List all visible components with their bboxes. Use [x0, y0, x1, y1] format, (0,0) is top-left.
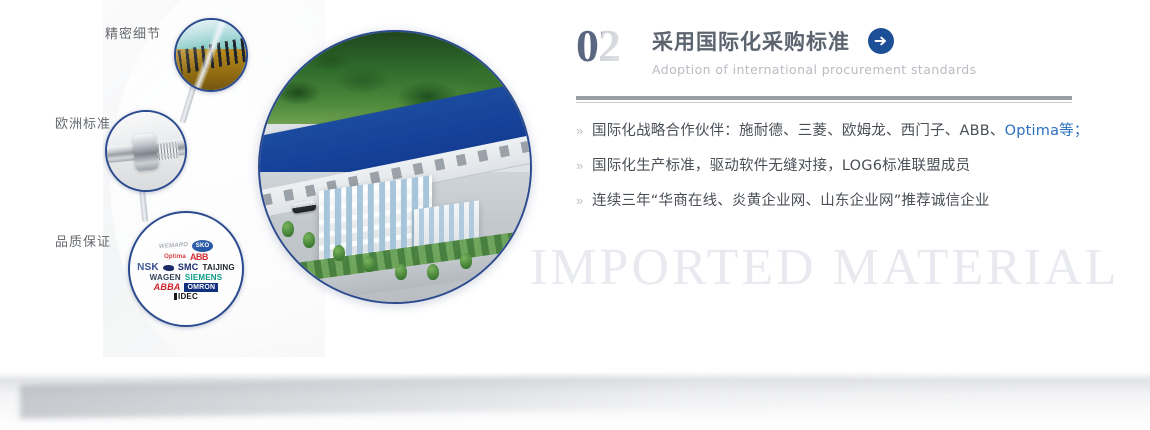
logo-wagen: WAGEN [150, 274, 181, 282]
list-item-text-plain: 国际化生产标准，驱动软件无缝对接，LOG6标准联盟成员 [592, 158, 970, 174]
tree [303, 232, 315, 248]
smc-mark-icon [163, 265, 174, 271]
brand-logos-circle: WEMARO SKO Optima ABB NSK SMC TAIJING WA… [128, 211, 244, 327]
tree [333, 245, 345, 261]
logo-optima: Optima [164, 254, 186, 260]
watermark-text: IMPORTED MATERIAL [530, 238, 1120, 297]
list-item: » 国际化生产标准，驱动软件无缝对接，LOG6标准联盟成员 [576, 156, 1096, 176]
section-header-text: 采用国际化采购标准 Adoption of international proc… [652, 24, 977, 77]
right-content: 02 采用国际化采购标准 Adoption of international p… [576, 24, 1096, 226]
side-label-european-standard: 欧洲标准 [55, 113, 111, 132]
section-number: 02 [576, 24, 626, 68]
bottom-shadow-band [0, 372, 1150, 430]
list-item-text: 国际化战略合作伙伴：施耐德、三菱、欧姆龙、西门子、ABB、Optima等； [592, 121, 1089, 141]
list-item-text: 连续三年“华商在线、炎黄企业网、山东企业网”推荐诚信企业 [592, 191, 990, 211]
page-subtitle: Adoption of international procurement st… [652, 62, 977, 77]
bottom-shadow-sweep [20, 367, 1150, 419]
logo-nsk: NSK [137, 263, 159, 273]
gear-macro-circle [174, 18, 248, 92]
list-item-text-plain: 连续三年“华商在线、炎黄企业网、山东企业网”推荐诚信企业 [592, 193, 990, 209]
page-root: WEMARO SKO Optima ABB NSK SMC TAIJING WA… [0, 0, 1150, 430]
chevron-bullet-icon: » [576, 121, 592, 141]
logo-smc: SMC [178, 263, 199, 272]
factory-photo-circle [258, 30, 532, 304]
idec-bar-icon [174, 293, 177, 300]
ball-screw-nut [132, 133, 159, 171]
section-header: 02 采用国际化采购标准 Adoption of international p… [576, 24, 1096, 82]
logo-sko: SKO [192, 240, 214, 252]
list-item: » 国际化战略合作伙伴：施耐德、三菱、欧姆龙、西门子、ABB、Optima等； [576, 121, 1096, 141]
logo-abb: ABB [190, 253, 208, 262]
page-title: 采用国际化采购标准 [652, 26, 850, 56]
tree [282, 221, 294, 237]
logo-omron: OMRON [184, 283, 218, 292]
tree [363, 256, 375, 272]
ball-screw-thread [158, 142, 180, 160]
logo-idec: IDEC [174, 293, 198, 301]
list-item-text: 国际化生产标准，驱动软件无缝对接，LOG6标准联盟成员 [592, 156, 970, 176]
tree [395, 264, 407, 280]
tree [460, 253, 472, 269]
ball-screw-circle [105, 110, 187, 192]
header-divider-thin [576, 102, 1072, 103]
list-item-text-plain: 国际化战略合作伙伴：施耐德、三菱、欧姆龙、西门子、ABB、 [592, 123, 1005, 139]
side-label-precision: 精密细节 [105, 23, 161, 42]
logo-idec-label: IDEC [178, 292, 198, 301]
logo-taijing: TAIJING [202, 264, 234, 272]
header-divider-thick [576, 96, 1072, 100]
logo-siemens: SIEMENS [185, 274, 222, 282]
list-item: » 连续三年“华商在线、炎黄企业网、山东企业网”推荐诚信企业 [576, 191, 1096, 211]
chevron-bullet-icon: » [576, 156, 592, 176]
list-item-text-highlight: Optima等； [1005, 123, 1089, 139]
arrow-right-circle-icon[interactable] [868, 28, 894, 54]
logo-abba: ABBA [154, 283, 181, 292]
logo-wemaro: WEMARO [158, 241, 188, 249]
brand-logo-grid: WEMARO SKO Optima ABB NSK SMC TAIJING WA… [130, 213, 242, 325]
feature-list: » 国际化战略合作伙伴：施耐德、三菱、欧姆龙、西门子、ABB、Optima等； … [576, 121, 1096, 211]
chevron-bullet-icon: » [576, 191, 592, 211]
side-label-quality-assurance: 品质保证 [55, 231, 111, 250]
